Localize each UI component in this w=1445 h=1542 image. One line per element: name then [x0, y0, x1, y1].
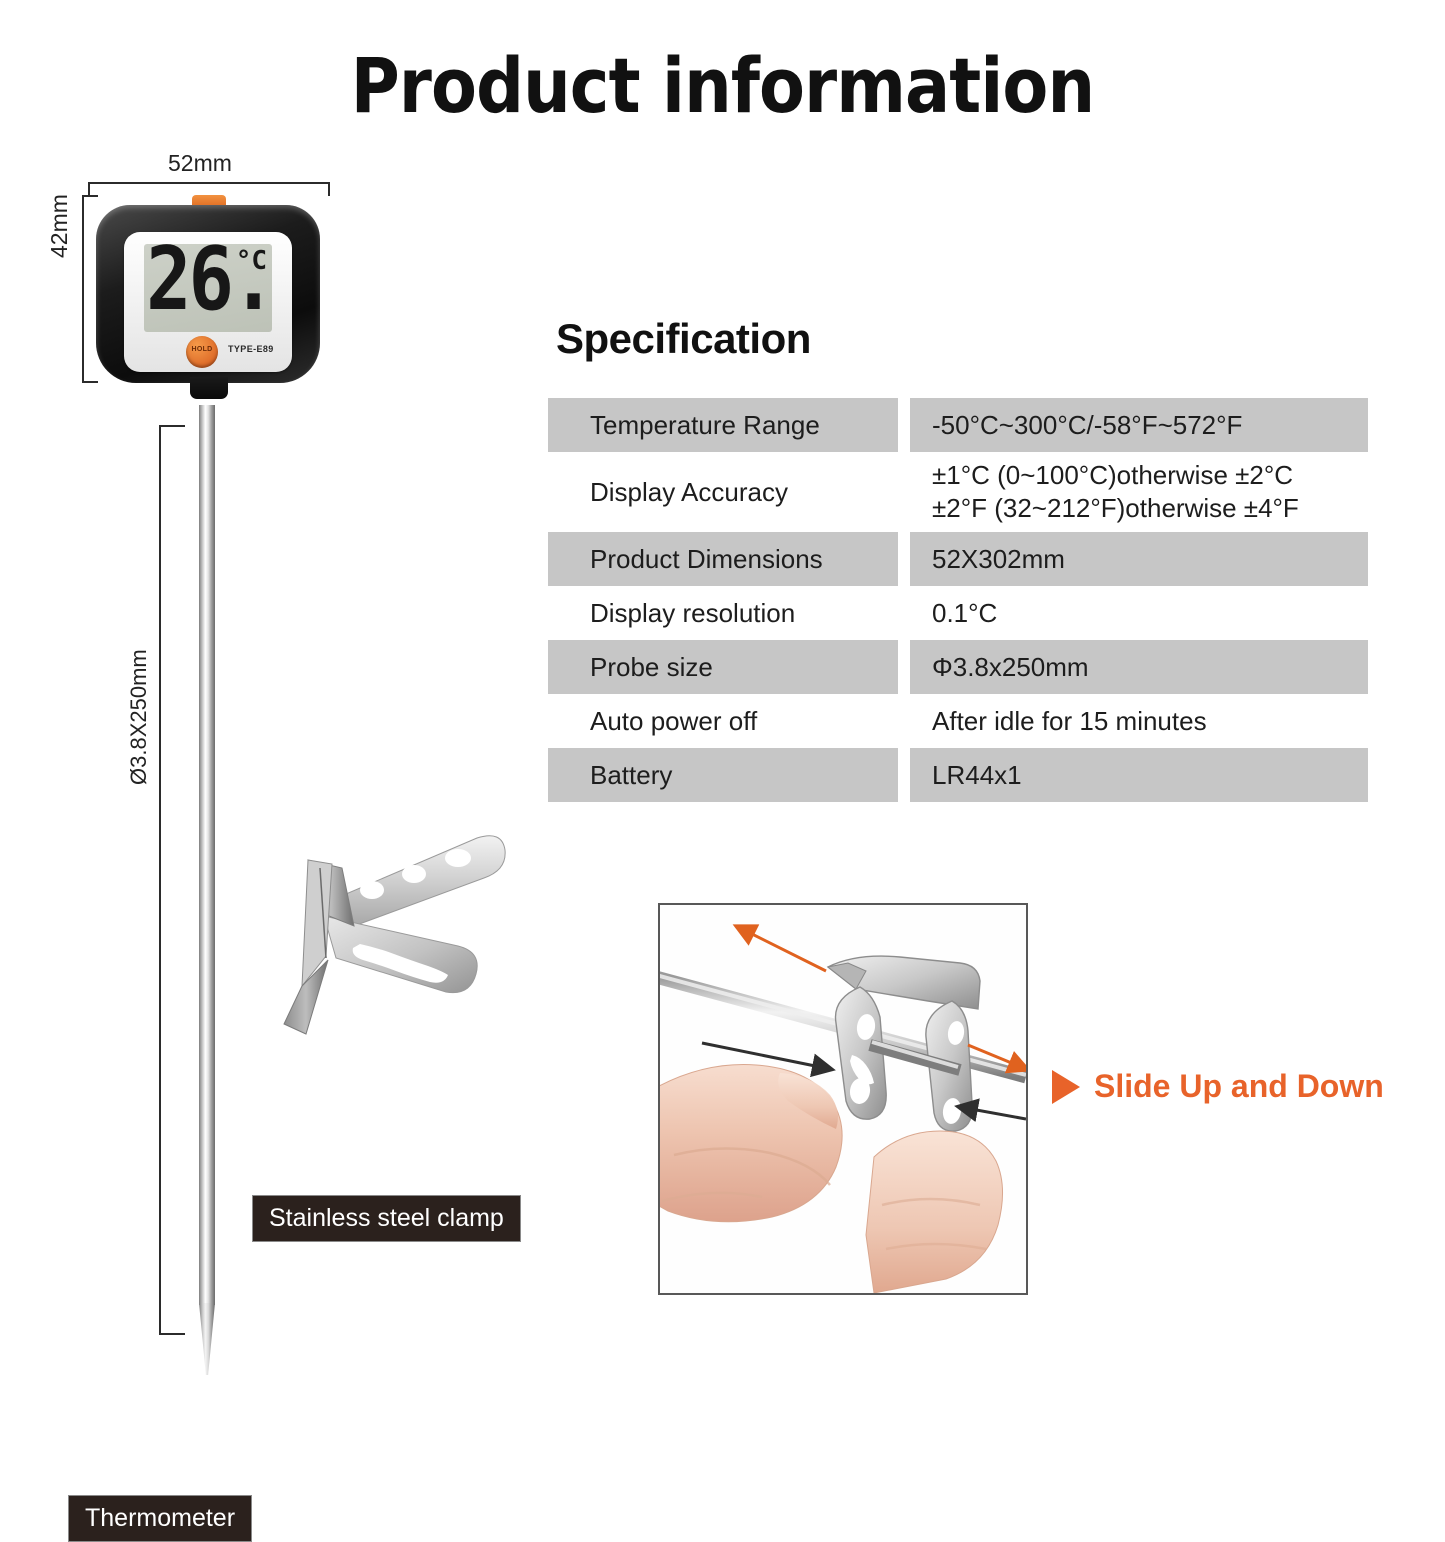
probe-shaft-assembly	[199, 405, 215, 1335]
slide-instruction: Slide Up and Down	[1052, 1068, 1384, 1105]
width-dimension-line	[88, 182, 330, 184]
spec-label: Display resolution	[548, 586, 898, 640]
width-dimension-tick-right	[328, 182, 330, 196]
spec-label: Auto power off	[548, 694, 898, 748]
column-gap	[898, 398, 910, 452]
column-gap	[898, 640, 910, 694]
spec-value: ±1°C (0~100°C)otherwise ±2°C ±2°F (32~21…	[910, 452, 1368, 532]
thermometer-head: 26.4 °C HOLD TYPE-E89	[96, 195, 320, 383]
lcd-screen: 26.4 °C	[144, 244, 272, 332]
table-row: Product Dimensions 52X302mm	[548, 532, 1368, 586]
spec-value: -50°C~300°C/-58°F~572°F	[910, 398, 1368, 452]
play-triangle-icon	[1052, 1070, 1080, 1104]
clamp-usage-photo	[658, 903, 1028, 1295]
table-row: Auto power off After idle for 15 minutes	[548, 694, 1368, 748]
table-row: Temperature Range -50°C~300°C/-58°F~572°…	[548, 398, 1368, 452]
column-gap	[898, 694, 910, 748]
table-row: Battery LR44x1	[548, 748, 1368, 802]
spec-value-line1: ±1°C (0~100°C)otherwise ±2°C	[932, 459, 1293, 492]
slide-instruction-label: Slide Up and Down	[1094, 1068, 1384, 1105]
width-dimension-tick-left	[88, 182, 90, 196]
column-gap	[898, 586, 910, 640]
probe-neck	[190, 377, 228, 399]
spec-label: Probe size	[548, 640, 898, 694]
column-gap	[898, 748, 910, 802]
probe-dimension-label: Ø3.8X250mm	[126, 649, 152, 785]
spec-label: Display Accuracy	[548, 452, 898, 532]
column-gap	[898, 452, 910, 532]
thermometer-faceplate: 26.4 °C HOLD TYPE-E89	[124, 232, 292, 372]
thermometer-housing: 26.4 °C HOLD TYPE-E89	[96, 205, 320, 383]
page-title: Product information	[87, 48, 1359, 124]
spec-value: After idle for 15 minutes	[910, 694, 1368, 748]
column-gap	[898, 532, 910, 586]
height-dimension-label: 42mm	[46, 194, 73, 258]
spec-label: Temperature Range	[548, 398, 898, 452]
spec-value: LR44x1	[910, 748, 1368, 802]
spec-value: Φ3.8x250mm	[910, 640, 1368, 694]
lcd-temperature-value: 26.4	[146, 244, 242, 323]
spec-value: 0.1°C	[910, 586, 1368, 640]
hold-button-label: HOLD	[186, 346, 218, 353]
stainless-steel-clamp-image	[262, 808, 562, 1048]
clamp-usage-illustration	[660, 905, 1026, 1293]
spec-value-line2: ±2°F (32~212°F)otherwise ±4°F	[932, 492, 1299, 525]
hold-button[interactable]: HOLD	[186, 336, 218, 368]
lcd-unit-label: °C	[236, 248, 267, 274]
probe-shaft	[199, 405, 215, 1305]
spec-value: 52X302mm	[910, 532, 1368, 586]
specification-table: Temperature Range -50°C~300°C/-58°F~572°…	[548, 398, 1368, 802]
probe-dimension-tick-top	[159, 425, 185, 427]
caption-stainless-steel-clamp: Stainless steel clamp	[252, 1195, 521, 1242]
spec-label: Product Dimensions	[548, 532, 898, 586]
caption-thermometer: Thermometer	[68, 1495, 252, 1542]
probe-dimension-tick-bottom	[159, 1333, 185, 1335]
table-row: Display resolution 0.1°C	[548, 586, 1368, 640]
spec-label: Battery	[548, 748, 898, 802]
model-number-label: TYPE-E89	[228, 344, 274, 354]
height-dimension-line	[82, 195, 84, 383]
width-dimension-label: 52mm	[168, 150, 232, 177]
specification-heading: Specification	[556, 315, 811, 363]
product-illustration-column: 52mm 42mm Ø3.8X250mm 26.4 °C HOLD TYPE-E…	[0, 140, 540, 1440]
probe-tip-icon	[199, 1303, 215, 1375]
table-row: Probe size Φ3.8x250mm	[548, 640, 1368, 694]
table-row: Display Accuracy ±1°C (0~100°C)otherwise…	[548, 452, 1368, 532]
probe-dimension-line	[159, 425, 161, 1335]
